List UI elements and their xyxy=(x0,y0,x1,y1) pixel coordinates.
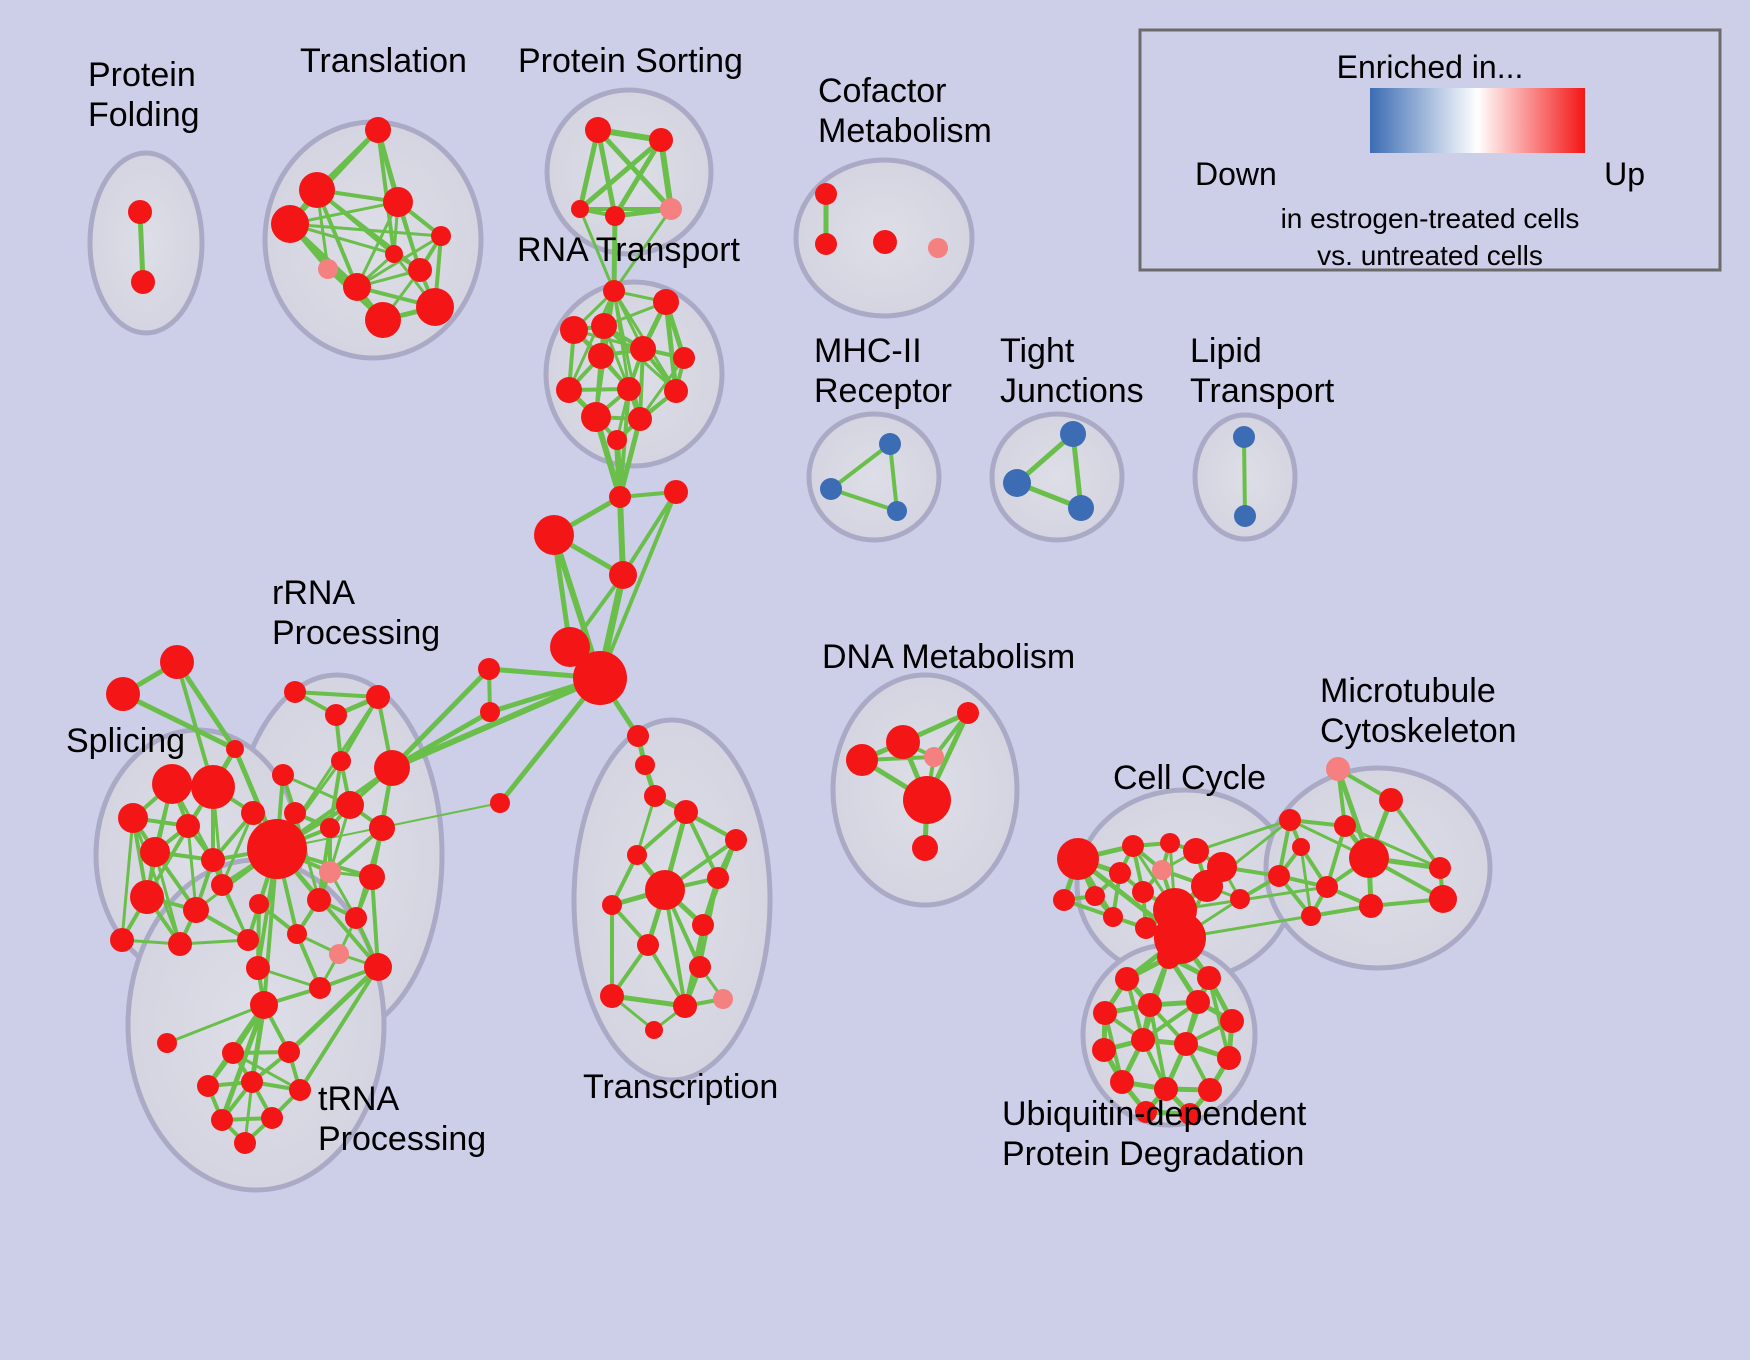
network-node[interactable] xyxy=(1060,421,1086,447)
network-node[interactable] xyxy=(478,658,500,680)
network-node[interactable] xyxy=(573,651,627,705)
network-node[interactable] xyxy=(299,172,335,208)
network-node[interactable] xyxy=(278,1041,300,1063)
network-node[interactable] xyxy=(605,206,625,226)
network-node[interactable] xyxy=(1138,993,1162,1017)
network-node[interactable] xyxy=(649,128,673,152)
network-node[interactable] xyxy=(1160,833,1180,853)
network-node[interactable] xyxy=(1132,881,1154,903)
network-node[interactable] xyxy=(287,924,307,944)
network-node[interactable] xyxy=(1152,860,1172,880)
network-node[interactable] xyxy=(1068,495,1094,521)
network-node[interactable] xyxy=(307,888,331,912)
network-node[interactable] xyxy=(602,895,622,915)
network-node[interactable] xyxy=(1279,809,1301,831)
network-node[interactable] xyxy=(416,288,454,326)
network-node[interactable] xyxy=(1349,838,1389,878)
network-node[interactable] xyxy=(383,187,413,217)
network-node[interactable] xyxy=(1057,838,1099,880)
cluster-label-line: Protein Sorting xyxy=(518,42,743,80)
network-node[interactable] xyxy=(1429,857,1451,879)
network-node[interactable] xyxy=(1085,886,1105,906)
network-node[interactable] xyxy=(374,750,410,786)
network-node[interactable] xyxy=(1429,885,1457,913)
network-node[interactable] xyxy=(140,837,170,867)
network-node[interactable] xyxy=(247,819,307,879)
network-node[interactable] xyxy=(241,801,265,825)
network-node[interactable] xyxy=(241,1071,263,1093)
network-node[interactable] xyxy=(272,764,294,786)
network-canvas: ProteinFoldingTranslationProtein Sorting… xyxy=(0,0,1750,1360)
network-node[interactable] xyxy=(369,815,395,841)
network-node[interactable] xyxy=(873,230,897,254)
network-node[interactable] xyxy=(609,561,637,589)
network-node[interactable] xyxy=(1316,876,1338,898)
network-node[interactable] xyxy=(364,953,392,981)
network-node[interactable] xyxy=(1103,907,1123,927)
network-node[interactable] xyxy=(673,994,697,1018)
network-node[interactable] xyxy=(1092,1038,1116,1062)
cluster-label-line: Transcription xyxy=(583,1068,778,1106)
network-node[interactable] xyxy=(1220,1009,1244,1033)
network-node[interactable] xyxy=(1292,838,1310,856)
network-node[interactable] xyxy=(1301,906,1321,926)
network-node[interactable] xyxy=(571,200,589,218)
network-node[interactable] xyxy=(600,984,624,1008)
legend-subtitle-line2: vs. untreated cells xyxy=(1317,240,1543,271)
network-node[interactable] xyxy=(957,702,979,724)
network-node[interactable] xyxy=(585,117,611,143)
network-node[interactable] xyxy=(1135,917,1157,939)
network-node[interactable] xyxy=(630,336,656,362)
network-node[interactable] xyxy=(359,864,385,890)
network-node[interactable] xyxy=(211,874,233,896)
network-node[interactable] xyxy=(1131,1028,1155,1052)
network-node[interactable] xyxy=(1234,505,1256,527)
network-node[interactable] xyxy=(645,1021,663,1039)
network-node[interactable] xyxy=(815,233,837,255)
cluster-label-line: Processing xyxy=(272,614,440,652)
cluster-label-line: Translation xyxy=(300,42,467,80)
network-node[interactable] xyxy=(431,226,451,246)
network-node[interactable] xyxy=(603,280,625,302)
network-node[interactable] xyxy=(1115,967,1139,991)
network-node[interactable] xyxy=(197,1075,219,1097)
network-node[interactable] xyxy=(110,928,134,952)
network-node[interactable] xyxy=(556,377,582,403)
network-node[interactable] xyxy=(490,793,510,813)
network-node[interactable] xyxy=(879,433,901,455)
network-node[interactable] xyxy=(689,956,711,978)
cluster-label-line: Protein Degradation xyxy=(1002,1135,1304,1173)
cluster-label-protein-sorting: Protein Sorting xyxy=(518,42,743,80)
network-node[interactable] xyxy=(617,377,641,401)
legend-down-label: Down xyxy=(1195,156,1277,192)
network-node[interactable] xyxy=(1003,469,1031,497)
network-node[interactable] xyxy=(385,245,403,263)
network-node[interactable] xyxy=(201,848,225,872)
network-node[interactable] xyxy=(320,818,340,838)
cluster-label-line: Cell Cycle xyxy=(1113,759,1266,797)
network-node[interactable] xyxy=(1174,1032,1198,1056)
legend: Enriched in... Down Up in estrogen-treat… xyxy=(1140,30,1720,271)
network-node[interactable] xyxy=(1197,966,1221,990)
network-node[interactable] xyxy=(222,1042,244,1064)
network-node[interactable] xyxy=(912,835,938,861)
network-node[interactable] xyxy=(234,1132,256,1154)
network-node[interactable] xyxy=(660,198,682,220)
network-node[interactable] xyxy=(331,751,351,771)
network-node[interactable] xyxy=(408,258,432,282)
network-node[interactable] xyxy=(366,685,390,709)
cluster-label-rna-transport: RNA Transport xyxy=(517,231,741,269)
network-node[interactable] xyxy=(261,1107,283,1129)
network-node[interactable] xyxy=(627,725,649,747)
network-node[interactable] xyxy=(325,704,347,726)
cluster-label-transcription: Transcription xyxy=(583,1068,778,1106)
network-node[interactable] xyxy=(928,238,948,258)
network-node[interactable] xyxy=(1122,835,1144,857)
network-node[interactable] xyxy=(284,802,306,824)
network-node[interactable] xyxy=(211,1109,233,1131)
network-node[interactable] xyxy=(168,932,192,956)
network-node[interactable] xyxy=(329,944,349,964)
network-node[interactable] xyxy=(365,302,401,338)
cluster-ellipse-protein-sorting xyxy=(547,90,711,254)
network-node[interactable] xyxy=(815,183,837,205)
network-node[interactable] xyxy=(1093,1001,1117,1025)
cluster-label-line: RNA Transport xyxy=(517,231,741,269)
network-node[interactable] xyxy=(284,681,306,703)
cluster-label-line: Cofactor xyxy=(818,72,947,110)
network-node[interactable] xyxy=(673,347,695,369)
network-node[interactable] xyxy=(157,1033,177,1053)
network-node[interactable] xyxy=(1183,838,1209,864)
cluster-label-line: Processing xyxy=(318,1120,486,1158)
enrichment-map-figure: ProteinFoldingTranslationProtein Sorting… xyxy=(0,0,1750,1360)
network-node[interactable] xyxy=(191,765,235,809)
network-node[interactable] xyxy=(903,776,951,824)
cluster-label-line: Cytoskeleton xyxy=(1320,712,1517,750)
network-node[interactable] xyxy=(609,486,631,508)
network-node[interactable] xyxy=(664,480,688,504)
cluster-label-line: Tight xyxy=(1000,332,1075,370)
network-node[interactable] xyxy=(237,929,259,951)
network-node[interactable] xyxy=(130,880,164,914)
network-node[interactable] xyxy=(131,270,155,294)
network-node[interactable] xyxy=(343,273,371,301)
network-node[interactable] xyxy=(289,1079,311,1101)
cluster-label-line: Splicing xyxy=(66,722,185,760)
network-node[interactable] xyxy=(591,313,617,339)
network-node[interactable] xyxy=(887,501,907,521)
network-node[interactable] xyxy=(725,829,747,851)
cluster-label-cell-cycle: Cell Cycle xyxy=(1113,759,1266,797)
network-node[interactable] xyxy=(560,316,588,344)
cluster-label-line: tRNA xyxy=(318,1080,400,1118)
legend-color-bar xyxy=(1370,88,1585,153)
cluster-label-line: Lipid xyxy=(1190,332,1262,370)
network-node[interactable] xyxy=(1110,1070,1134,1094)
cluster-label-line: Receptor xyxy=(814,372,952,410)
network-node[interactable] xyxy=(106,677,140,711)
network-node[interactable] xyxy=(309,977,331,999)
network-node[interactable] xyxy=(118,803,148,833)
network-node[interactable] xyxy=(1191,870,1223,902)
cluster-label-line: Ubiquitin-dependent xyxy=(1002,1095,1307,1133)
network-node[interactable] xyxy=(644,785,666,807)
network-node[interactable] xyxy=(607,430,627,450)
network-node[interactable] xyxy=(183,897,209,923)
network-node[interactable] xyxy=(336,791,364,819)
network-node[interactable] xyxy=(1230,889,1250,909)
network-node[interactable] xyxy=(128,200,152,224)
network-node[interactable] xyxy=(820,478,842,500)
cluster-ellipse-protein-folding xyxy=(90,153,202,333)
network-node[interactable] xyxy=(713,989,733,1009)
network-node[interactable] xyxy=(886,725,920,759)
cluster-ellipse-mhc-ii-receptor xyxy=(809,414,939,540)
network-node[interactable] xyxy=(152,764,192,804)
network-node[interactable] xyxy=(365,117,391,143)
network-node[interactable] xyxy=(692,914,714,936)
network-node[interactable] xyxy=(1157,945,1181,969)
network-node[interactable] xyxy=(1053,889,1075,911)
network-node[interactable] xyxy=(1268,865,1290,887)
network-node[interactable] xyxy=(318,259,338,279)
network-node[interactable] xyxy=(319,861,341,883)
network-edge xyxy=(1244,437,1245,516)
cluster-label-line: Protein xyxy=(88,56,196,94)
network-node[interactable] xyxy=(637,934,659,956)
cluster-label-line: MHC-II xyxy=(814,332,922,370)
network-node[interactable] xyxy=(480,702,500,722)
network-node[interactable] xyxy=(1359,894,1383,918)
legend-title: Enriched in... xyxy=(1337,49,1524,85)
cluster-label-line: rRNA xyxy=(272,574,355,612)
network-node[interactable] xyxy=(588,343,614,369)
cluster-label-line: Metabolism xyxy=(818,112,992,150)
network-node[interactable] xyxy=(160,645,194,679)
network-node[interactable] xyxy=(345,907,367,929)
network-node[interactable] xyxy=(534,515,574,555)
network-node[interactable] xyxy=(250,991,278,1019)
network-node[interactable] xyxy=(653,289,679,315)
cluster-label-splicing: Splicing xyxy=(66,722,185,760)
network-node[interactable] xyxy=(1109,862,1131,884)
network-node[interactable] xyxy=(627,845,647,865)
legend-subtitle-line1: in estrogen-treated cells xyxy=(1281,203,1580,234)
network-node[interactable] xyxy=(846,744,878,776)
network-node[interactable] xyxy=(1186,990,1210,1014)
network-node[interactable] xyxy=(924,747,944,767)
legend-up-label: Up xyxy=(1604,156,1645,192)
network-node[interactable] xyxy=(1326,757,1350,781)
network-node[interactable] xyxy=(1379,788,1403,812)
cluster-label-line: DNA Metabolism xyxy=(822,638,1075,676)
network-node[interactable] xyxy=(1334,815,1356,837)
network-node[interactable] xyxy=(1217,1046,1241,1070)
network-node[interactable] xyxy=(176,814,200,838)
cluster-label-line: Microtubule xyxy=(1320,672,1496,710)
cluster-label-translation: Translation xyxy=(300,42,467,80)
cluster-label-line: Transport xyxy=(1190,372,1335,410)
network-node[interactable] xyxy=(249,894,269,914)
network-node[interactable] xyxy=(707,867,729,889)
network-node[interactable] xyxy=(628,407,652,431)
cluster-label-line: Folding xyxy=(88,96,200,134)
network-node[interactable] xyxy=(645,870,685,910)
cluster-label-dna-metabolism: DNA Metabolism xyxy=(822,638,1075,676)
network-node[interactable] xyxy=(271,205,309,243)
network-node[interactable] xyxy=(674,800,698,824)
network-node[interactable] xyxy=(581,402,611,432)
network-node[interactable] xyxy=(1233,426,1255,448)
network-node[interactable] xyxy=(635,755,655,775)
network-node[interactable] xyxy=(246,956,270,980)
network-node[interactable] xyxy=(226,740,244,758)
network-node[interactable] xyxy=(664,379,688,403)
cluster-label-line: Junctions xyxy=(1000,372,1144,410)
